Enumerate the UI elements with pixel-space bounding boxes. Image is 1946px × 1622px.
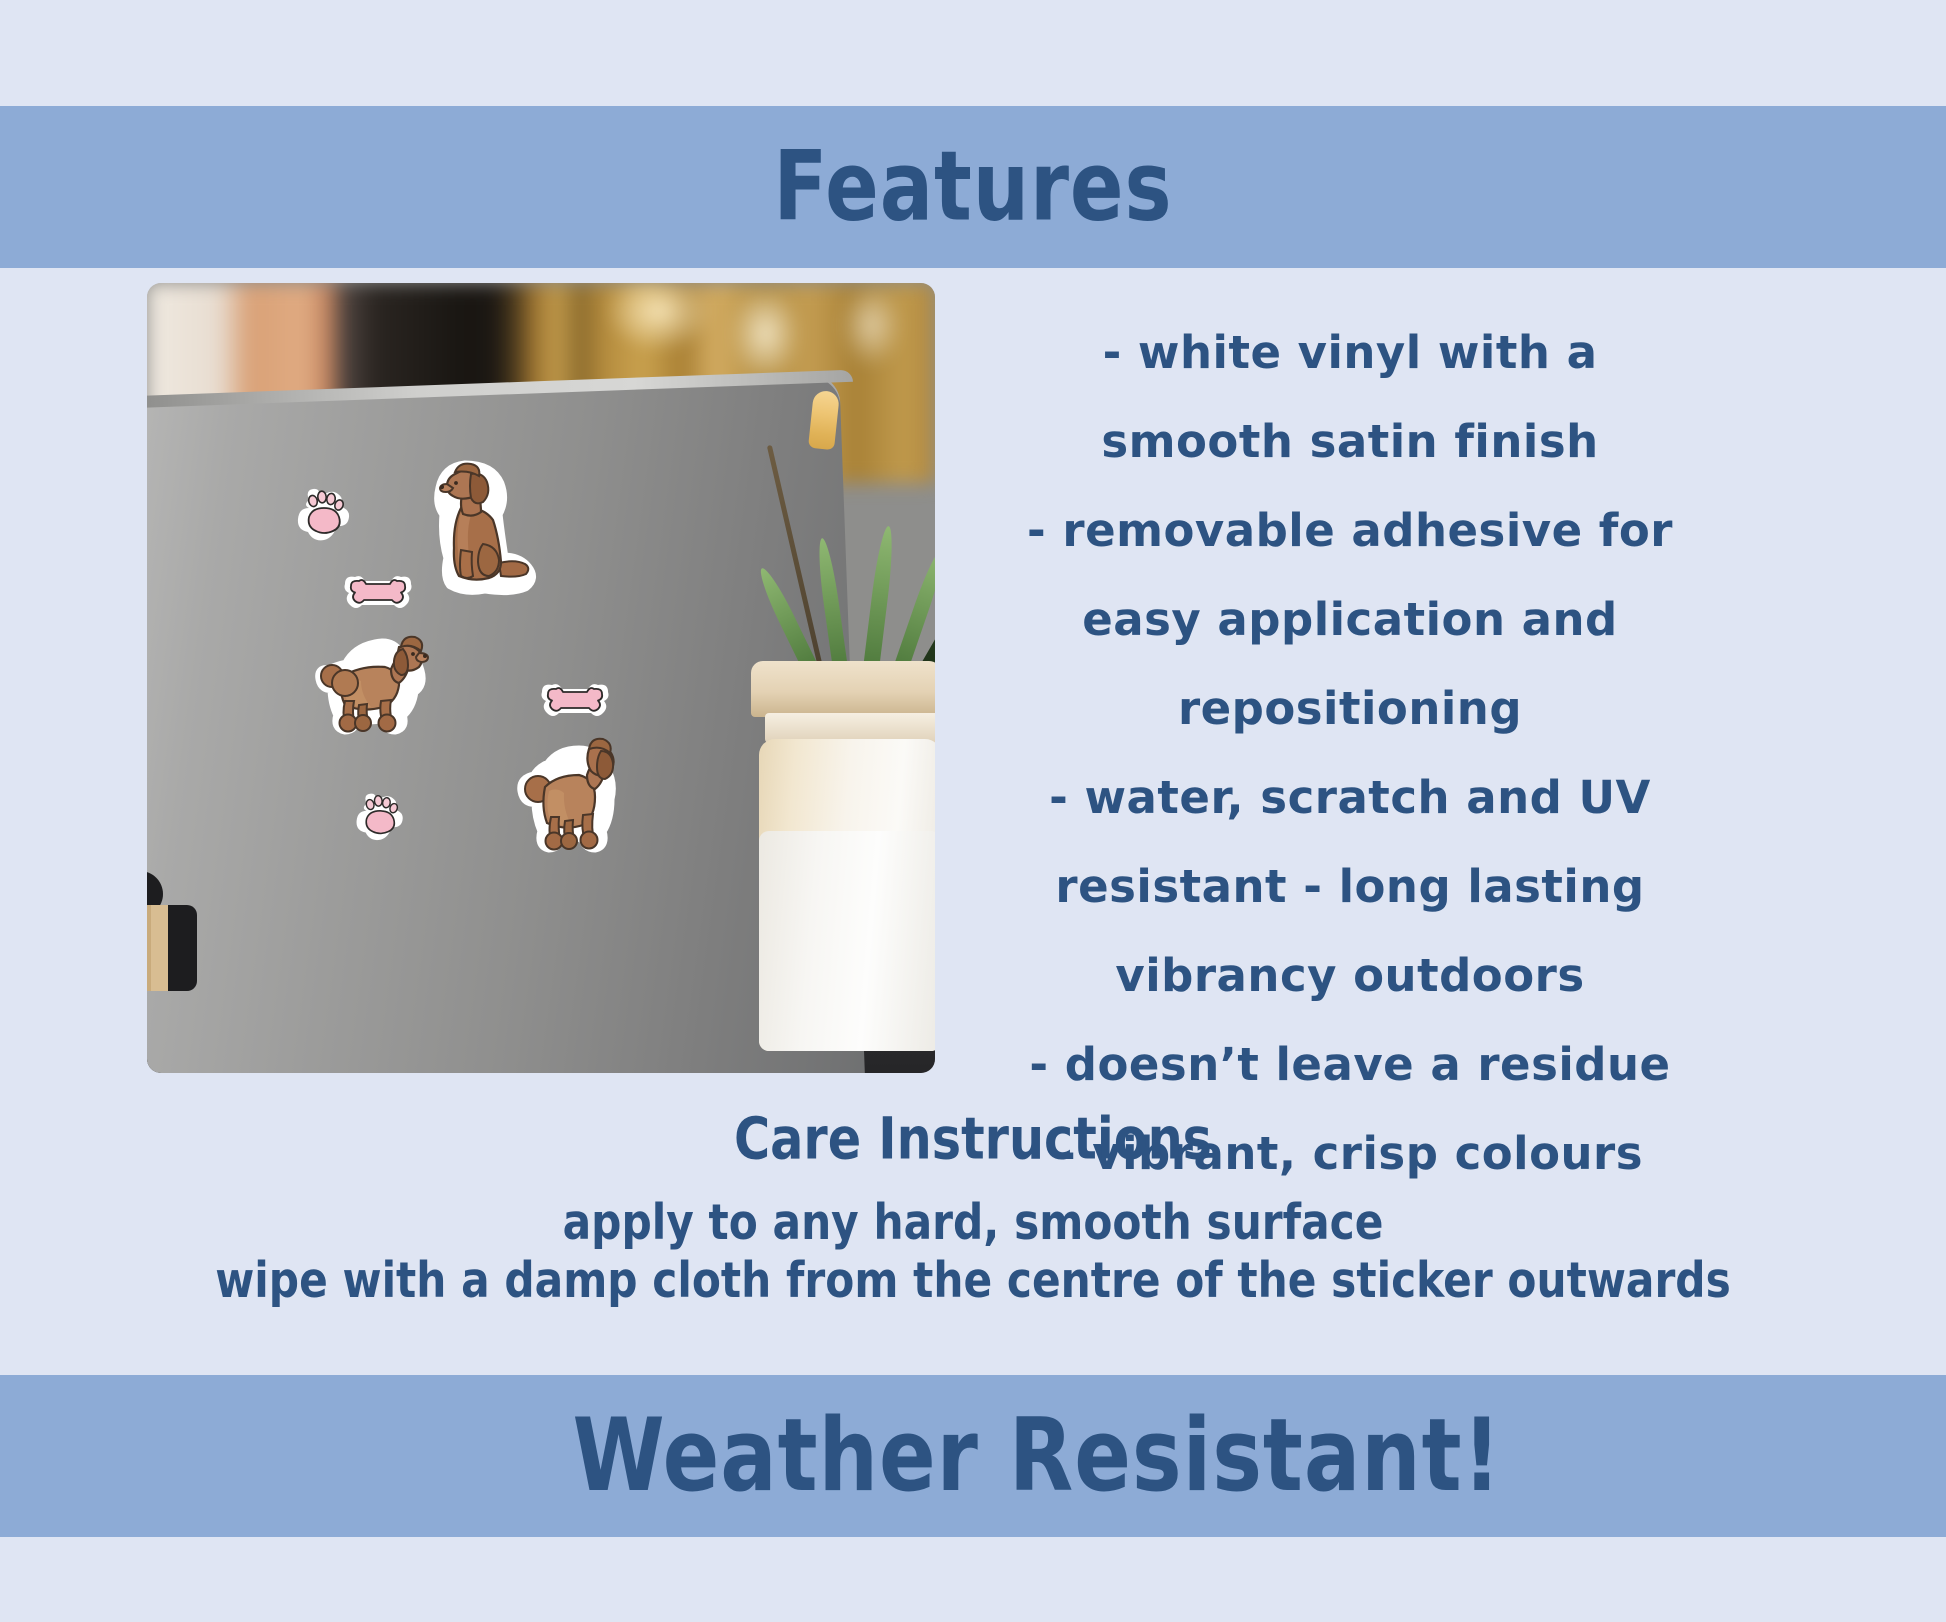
feature-line: - white vinyl with a (1000, 308, 1700, 397)
feature-line: easy application and (1000, 575, 1700, 664)
plant-pot (751, 661, 935, 1051)
feature-line: resistant - long lasting (1000, 842, 1700, 931)
background-highlight-3 (840, 289, 903, 369)
bone-sticker-right (539, 679, 611, 723)
poodle-rear-sticker (515, 735, 619, 859)
features-list: - white vinyl with a smooth satin finish… (1000, 308, 1700, 1198)
bone-sticker-left (342, 571, 414, 615)
features-banner: Features (0, 106, 1946, 268)
feature-line: vibrancy outdoors (1000, 931, 1700, 1020)
care-instructions-line-2: wipe with a damp cloth from the centre o… (58, 1250, 1887, 1313)
desk-object-body (147, 905, 197, 991)
care-instructions-title: Care Instructions (68, 1110, 1878, 1168)
feature-line: repositioning (1000, 664, 1700, 753)
plant-leaf (863, 525, 896, 670)
poodle-standing-sticker (315, 631, 435, 741)
product-photo (147, 283, 935, 1073)
page-title: Features (773, 139, 1172, 235)
weather-resistant-banner: Weather Resistant! (0, 1375, 1946, 1537)
poodle-sitting-sticker (425, 458, 537, 598)
paw-print-sticker-top (293, 486, 357, 548)
background-highlight-2 (730, 293, 801, 383)
paw-print-sticker-bottom (352, 791, 410, 847)
background-highlight-1 (604, 283, 714, 353)
care-instructions-line-1: apply to any hard, smooth surface (58, 1192, 1887, 1255)
feature-line: - water, scratch and UV (1000, 753, 1700, 842)
pot-rim (751, 661, 935, 717)
weather-resistant-title: Weather Resistant! (572, 1406, 1501, 1506)
care-instructions: Care Instructions apply to any hard, smo… (0, 1113, 1946, 1310)
feature-line: - doesn’t leave a residue (1000, 1020, 1700, 1109)
desk-object (147, 871, 203, 991)
feature-line: smooth satin finish (1000, 397, 1700, 486)
feature-line: - removable adhesive for (1000, 486, 1700, 575)
pot-body-lower (759, 831, 935, 1051)
